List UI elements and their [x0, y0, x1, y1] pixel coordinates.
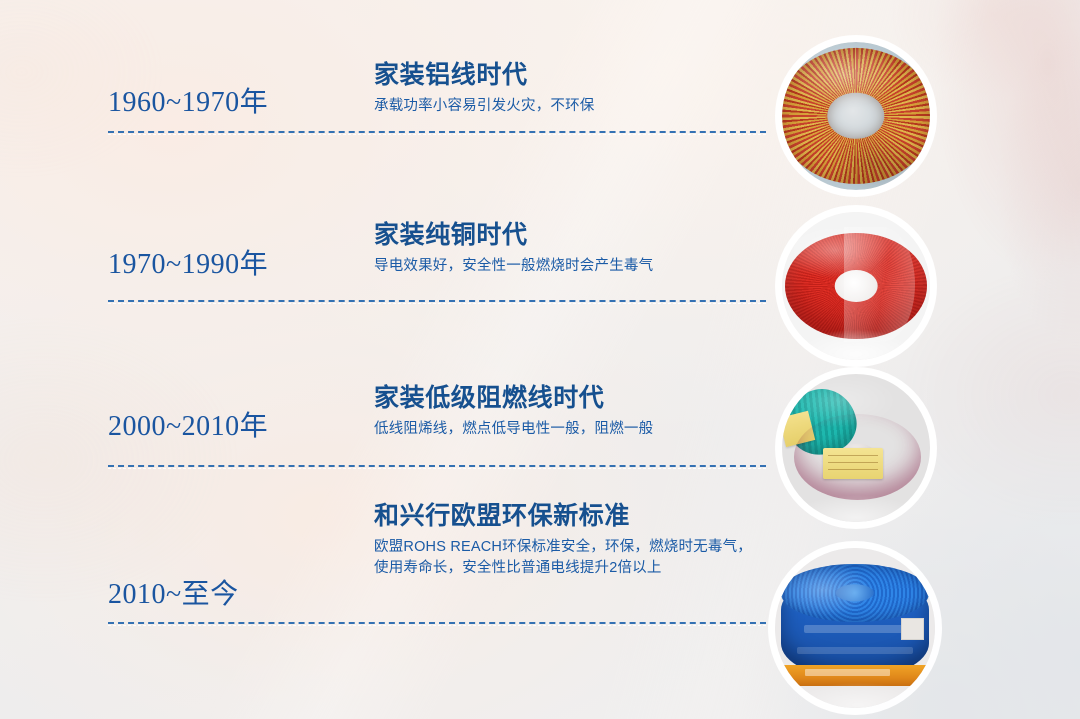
- timeline-divider-highlight: [108, 303, 766, 304]
- timeline-year: 1960~1970年: [108, 80, 268, 120]
- timeline-divider: [108, 622, 766, 624]
- photo-gloss: [782, 42, 930, 190]
- timeline-divider: [108, 131, 766, 133]
- photo-gloss: [775, 548, 935, 708]
- wire-coil-blue-photo: [775, 548, 935, 708]
- timeline-description: 承载功率小容易引发火灾，不环保: [374, 96, 766, 117]
- timeline-divider: [108, 300, 766, 302]
- timeline-description: 欧盟ROHS REACH环保标准安全，环保，燃烧时无毒气，使用寿命长，安全性比普…: [374, 537, 766, 580]
- timeline-divider: [108, 465, 766, 467]
- photo-gloss: [782, 374, 930, 522]
- photo-inner: [782, 374, 930, 522]
- photo-gloss: [782, 212, 930, 360]
- wire-coil-red-photo: [782, 212, 930, 360]
- timeline-text-block: 家装铝线时代 承载功率小容易引发火灾，不环保: [374, 62, 774, 117]
- timeline-divider-highlight: [108, 625, 766, 626]
- timeline-page: 1960~1970年 家装铝线时代 承载功率小容易引发火灾，不环保 1970~1…: [0, 0, 1080, 719]
- timeline-year: 2010~至今: [108, 572, 239, 612]
- timeline-year: 2000~2010年: [108, 404, 268, 444]
- timeline-title: 家装纯铜时代: [374, 222, 774, 250]
- wire-coil-yellow-red-photo: [782, 42, 930, 190]
- timeline-title: 家装低级阻燃线时代: [374, 385, 774, 413]
- timeline-text-block: 和兴行欧盟环保新标准 欧盟ROHS REACH环保标准安全，环保，燃烧时无毒气，…: [374, 503, 774, 579]
- wire-coil-pink-teal-photo: [782, 374, 930, 522]
- timeline-description: 导电效果好，安全性一般燃烧时会产生毒气: [374, 256, 766, 277]
- photo-inner: [782, 212, 930, 360]
- photo-inner: [782, 42, 930, 190]
- timeline-divider-highlight: [108, 468, 766, 469]
- timeline-text-block: 家装纯铜时代 导电效果好，安全性一般燃烧时会产生毒气: [374, 222, 774, 277]
- timeline-year: 1970~1990年: [108, 242, 268, 282]
- timeline-text-block: 家装低级阻燃线时代 低线阻烯线，燃点低导电性一般，阻燃一般: [374, 385, 774, 440]
- photo-inner: [775, 548, 935, 708]
- timeline-description: 低线阻烯线，燃点低导电性一般，阻燃一般: [374, 419, 766, 440]
- timeline-divider-highlight: [108, 134, 766, 135]
- timeline-title: 家装铝线时代: [374, 62, 774, 90]
- timeline-title: 和兴行欧盟环保新标准: [374, 503, 774, 531]
